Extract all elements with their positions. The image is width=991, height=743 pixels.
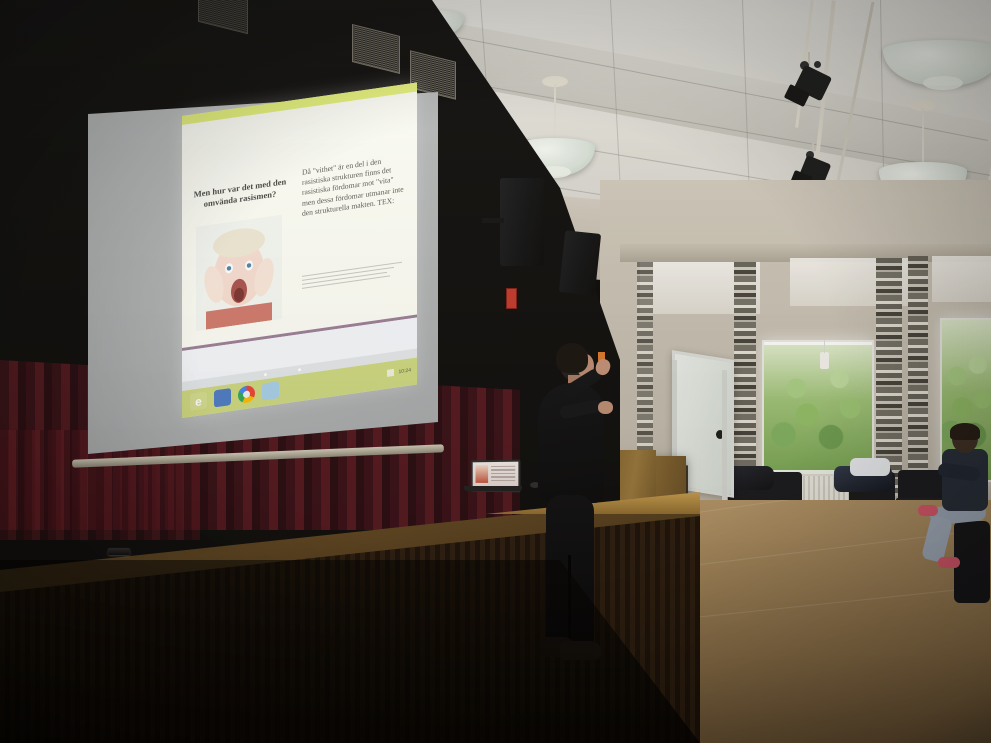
taskbar-system-tray[interactable]: 10:24 [387,366,411,376]
projected-slide: Men hur var det med den omvända rasismen… [182,83,417,418]
photo-scene: Men hur var det med den omvända rasismen… [0,0,991,743]
pendant-lamp [920,0,991,105]
screaming-boy-illustration [196,215,282,331]
window [762,340,874,476]
light-blue-app-icon[interactable] [262,381,279,400]
presenter-hair [556,343,588,373]
window-lamp-cord [824,340,825,353]
internet-explorer-icon[interactable]: e [190,391,207,410]
window-pendant-lamp [820,352,829,369]
tray-icon[interactable] [387,369,394,377]
pa-speaker [500,178,544,266]
blue-app-icon[interactable] [214,388,231,407]
mobile-phone [108,548,130,555]
patterned-curtain [734,262,756,494]
presenter-right-hand [598,401,613,414]
window-blind [932,256,991,302]
slide-content-area: Men hur var det med den omvända rasismen… [182,92,417,348]
speaker-bracket [482,218,504,223]
attendee-shoe [938,557,960,568]
patterned-curtain [637,262,653,482]
attendee-shoe [918,505,938,516]
seated-attendee [930,425,991,600]
pa-speaker [559,230,601,295]
exit-sign [506,288,517,309]
stage-spotlight [786,52,838,114]
google-chrome-icon[interactable] [238,385,255,404]
slide-footnote-lines [302,262,402,292]
jacket-on-chair [850,458,890,476]
laptop-slide-text-lines [491,466,515,483]
patterned-curtain [908,256,928,496]
laptop-slide-thumbnail [476,465,489,483]
slide-photo [196,215,282,331]
attendee-hair [950,423,980,440]
tray-clock: 10:24 [398,367,411,375]
laptop-base [464,486,522,491]
slide-body-text: Då "vithet" är en del i den rasistiska s… [302,153,406,219]
slide-title: Men hur var det med den omvända rasismen… [188,175,292,212]
